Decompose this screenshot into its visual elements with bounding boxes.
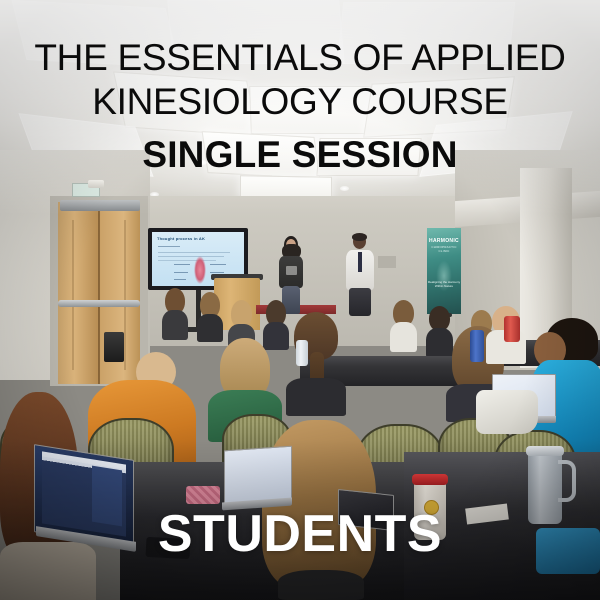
leaf-icon	[433, 254, 455, 298]
torso	[286, 378, 346, 416]
hair	[352, 233, 367, 241]
water-bottle	[296, 340, 308, 366]
attendee	[196, 292, 224, 342]
tumbler	[504, 316, 520, 342]
door-push-bar[interactable]	[58, 300, 140, 307]
promo-image: Thought process in AK HARMONIC CHIROPRAC…	[0, 0, 600, 600]
subtitle: SINGLE SESSION	[0, 134, 600, 176]
shirt-graphic	[286, 266, 297, 275]
torso	[390, 322, 417, 352]
attendee	[160, 288, 190, 340]
torso	[278, 570, 364, 600]
bottom-label: STUDENTS	[0, 505, 600, 563]
presenter-man	[344, 234, 376, 316]
door-closer-icon	[60, 200, 140, 211]
attendee	[388, 300, 418, 352]
trousers	[349, 288, 371, 316]
slide-title: Thought process in AK	[157, 236, 205, 241]
water-bottle	[470, 330, 484, 362]
tumbler-lid	[412, 474, 448, 485]
banner-brand: HARMONIC	[427, 238, 461, 244]
anatomy-figure-icon	[193, 254, 207, 286]
tumbler-lid	[526, 446, 564, 456]
banner-subtitle: CHIROPRACTIC CLINIC	[427, 245, 461, 253]
necktie	[358, 252, 362, 272]
wall-plate	[378, 256, 396, 268]
torso	[162, 310, 188, 340]
attendee-ponytail	[286, 312, 346, 412]
harmonic-banner: HARMONIC CHIROPRACTIC CLINIC Realigning …	[427, 228, 461, 314]
page-title: THE ESSENTIALS OF APPLIED KINESIOLOGY CO…	[0, 36, 600, 124]
tumbler-handle	[558, 460, 576, 502]
white-cloth	[476, 390, 538, 434]
banner-tagline: Realigning the Harmony Within Nature	[427, 280, 461, 288]
wall-sconce-icon	[88, 180, 104, 188]
pink-item	[186, 486, 220, 504]
